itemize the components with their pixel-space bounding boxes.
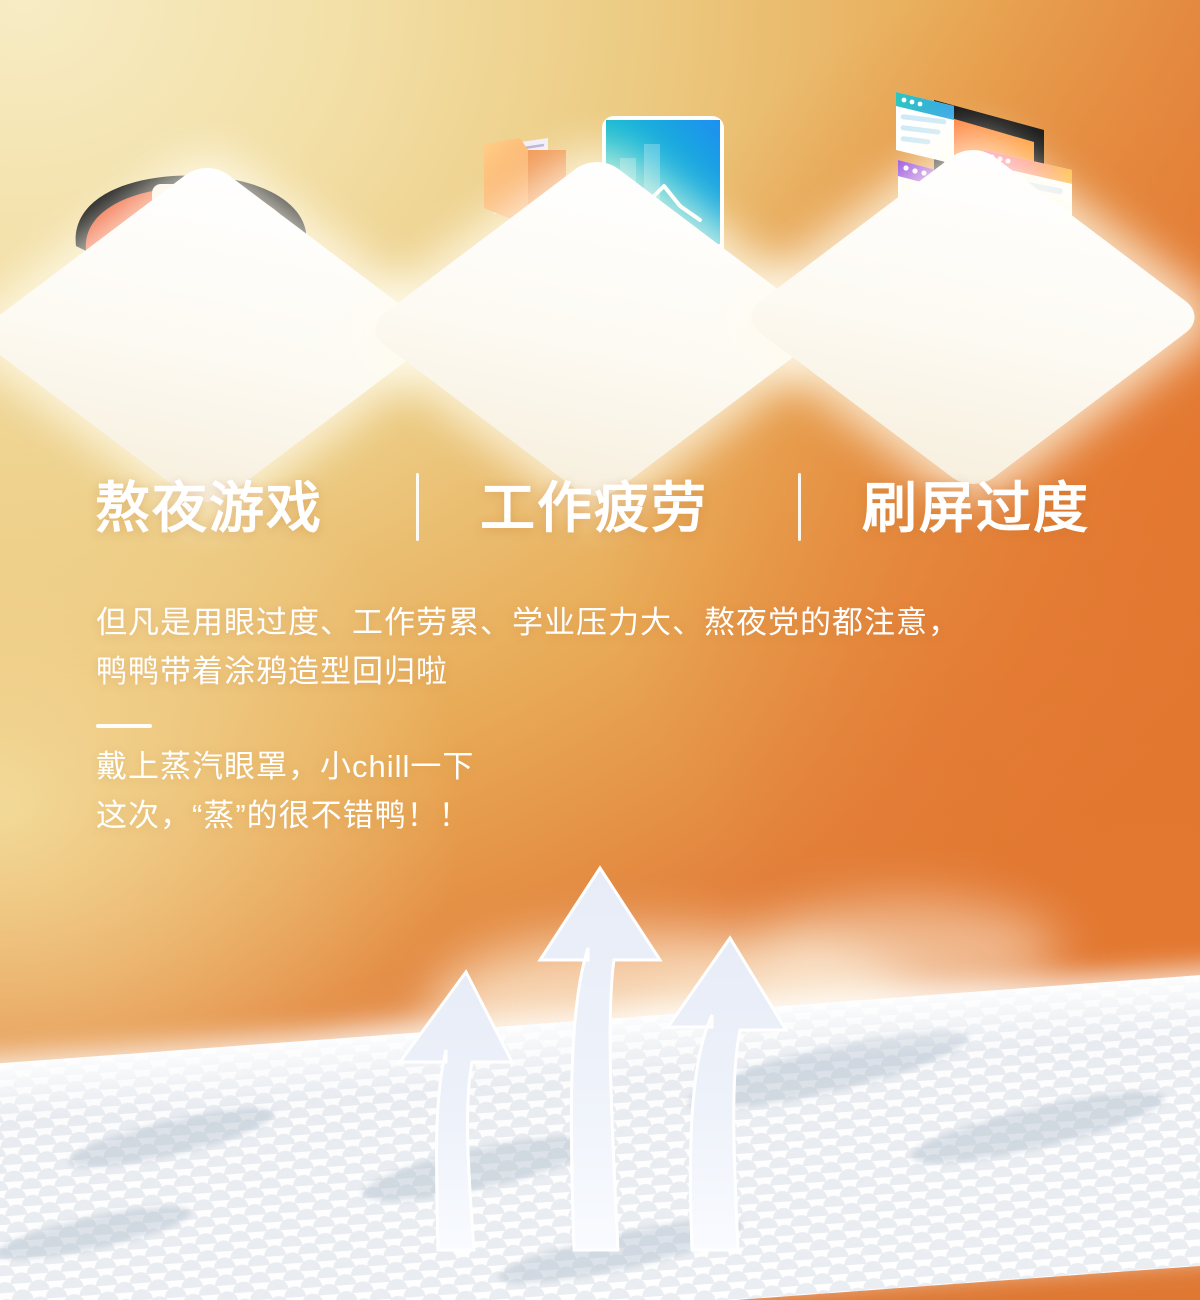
- paragraph-one: 但凡是用眼过度、工作劳累、学业压力大、熬夜党的都注意， 鸭鸭带着涂鸦造型回归啦: [96, 598, 1096, 696]
- illustration-gaming: [34, 150, 394, 430]
- headline-divider-2: [798, 473, 801, 541]
- illustration-work-fatigue: [424, 96, 784, 426]
- illustration-screen-overuse: [794, 72, 1164, 428]
- paragraph-one-line-two: 鸭鸭带着涂鸦造型回归啦: [96, 647, 1096, 696]
- paragraph-one-line-one: 但凡是用眼过度、工作劳累、学业压力大、熬夜党的都注意，: [96, 598, 1096, 647]
- feature-label-work-fatigue: 工作疲劳: [480, 463, 708, 543]
- promo-banner: 熬夜游戏 工作疲劳 刷屏过度 但凡是用眼过度、工作劳累、学业压力大、熬夜党的都注…: [0, 0, 1200, 1300]
- paragraph-two-line-one: 戴上蒸汽眼罩，小chill一下: [96, 742, 1096, 791]
- paragraph-two-line-two: 这次，“蒸”的很不错鸭！！: [96, 791, 1096, 840]
- paragraph-two: 戴上蒸汽眼罩，小chill一下 这次，“蒸”的很不错鸭！！: [96, 742, 1096, 840]
- headline-divider-1: [416, 473, 419, 541]
- feature-label-screen-overuse: 刷屏过度: [862, 463, 1090, 543]
- copy-block: 但凡是用眼过度、工作劳累、学业压力大、熬夜党的都注意， 鸭鸭带着涂鸦造型回归啦 …: [96, 598, 1096, 840]
- feature-label-gaming: 熬夜游戏: [95, 463, 323, 543]
- feature-headline-row: 熬夜游戏 工作疲劳 刷屏过度: [0, 455, 1200, 550]
- copy-divider-rule: [96, 724, 152, 728]
- ui-card-teal: [896, 92, 954, 164]
